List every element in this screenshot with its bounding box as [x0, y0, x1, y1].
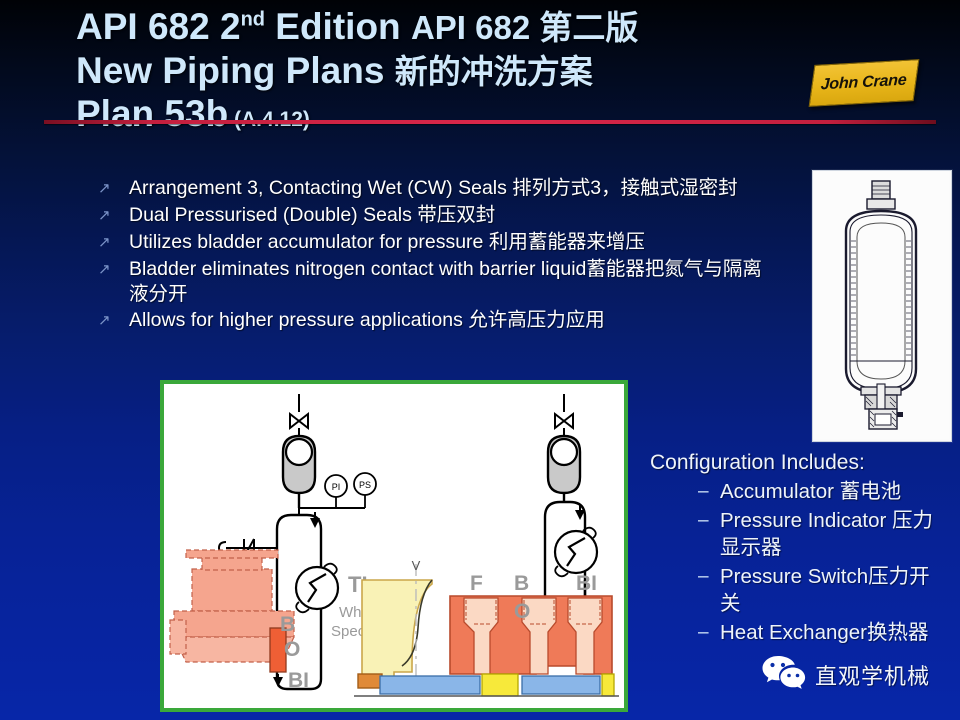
dash-bullet-icon: – — [698, 507, 720, 534]
pi-gauge-label: PI — [332, 482, 341, 492]
arrow-bullet-icon: ↗ — [96, 230, 129, 256]
list-item: – Pressure Switch压力开关 — [650, 563, 950, 617]
configuration-title: Configuration Includes: — [650, 450, 950, 476]
o-label-left: O — [284, 638, 300, 661]
title-edition-text: Edition — [265, 6, 411, 47]
list-item: – Accumulator 蓄电池 — [650, 478, 950, 505]
wechat-label: 直观学机械 — [815, 659, 930, 691]
title-plan-number: Plan 53b — [76, 93, 228, 134]
john-crane-logo: John Crane — [809, 59, 920, 107]
piping-schematic-icon: PI PS — [164, 384, 624, 708]
title-piping-plans-text: New Piping Plans — [76, 50, 395, 91]
title-ordinal-superscript: nd — [241, 9, 265, 31]
wechat-watermark: 直观学机械 — [762, 654, 930, 695]
config-item-text: Heat Exchanger换热器 — [720, 619, 929, 646]
title-line-1: API 682 2nd Edition API 682 第二版 — [76, 8, 866, 46]
ps-gauge-label: PS — [359, 480, 371, 490]
title-api-cn-prefix: API 682 — [411, 9, 539, 46]
arrow-bullet-icon: ↗ — [96, 203, 129, 229]
dash-bullet-icon: – — [698, 619, 720, 646]
dash-bullet-icon: – — [698, 478, 720, 505]
list-item: ↗ Bladder eliminates nitrogen contact wi… — [96, 257, 776, 307]
bullet-text: Allows for higher pressure applications … — [129, 308, 605, 333]
centerline-label: V — [412, 558, 421, 573]
config-item-text: Accumulator 蓄电池 — [720, 478, 901, 505]
o-label-right: O — [514, 600, 530, 623]
list-item: – Pressure Indicator 压力显示器 — [650, 507, 950, 561]
dash-bullet-icon: – — [698, 563, 720, 590]
bullet-text: Utilizes bladder accumulator for pressur… — [129, 230, 645, 255]
config-item-text: Pressure Indicator 压力显示器 — [720, 507, 950, 561]
wechat-icon — [762, 654, 806, 695]
accumulator-drawing-icon — [813, 171, 949, 439]
bullet-list: ↗ Arrangement 3, Contacting Wet (CW) Sea… — [96, 176, 776, 335]
bladder-accumulator-cutaway-image — [812, 170, 952, 442]
f-label-right: F — [470, 572, 483, 595]
wechat-bubbles-icon — [762, 654, 806, 690]
config-item-text: Pressure Switch压力开关 — [720, 563, 950, 617]
john-crane-logo-text: John Crane — [821, 72, 907, 95]
list-item: ↗ Arrangement 3, Contacting Wet (CW) Sea… — [96, 176, 776, 202]
title-divider-rule — [44, 120, 936, 124]
bullet-text: Dual Pressurised (Double) Seals 带压双封 — [129, 203, 495, 228]
title-line-1-chinese: 第二版 — [539, 9, 638, 46]
title-line-2-chinese: 新的冲洗方案 — [395, 53, 593, 90]
b-label-left: B — [280, 613, 295, 636]
configuration-list: Configuration Includes: – Accumulator 蓄电… — [650, 450, 950, 646]
slide-root: API 682 2nd Edition API 682 第二版 New Pipi… — [0, 0, 960, 720]
bi-label-left: BI — [288, 669, 309, 692]
list-item: ↗ Allows for higher pressure application… — [96, 308, 776, 334]
arrow-bullet-icon: ↗ — [96, 176, 129, 202]
b-label-right: B — [514, 572, 529, 595]
list-item: – Heat Exchanger换热器 — [650, 619, 950, 646]
arrow-bullet-icon: ↗ — [96, 308, 129, 334]
title-line-3: Plan 53b (A.4.12) — [76, 95, 866, 133]
list-item: ↗ Utilizes bladder accumulator for press… — [96, 230, 776, 256]
bullet-text: Bladder eliminates nitrogen contact with… — [129, 257, 776, 307]
bi-label-right: BI — [576, 572, 597, 595]
plan-53b-piping-diagram: PI PS — [160, 380, 628, 712]
bullet-text: Arrangement 3, Contacting Wet (CW) Seals… — [129, 176, 738, 201]
list-item: ↗ Dual Pressurised (Double) Seals 带压双封 — [96, 203, 776, 229]
arrow-bullet-icon: ↗ — [96, 257, 129, 283]
title-line-2: New Piping Plans 新的冲洗方案 — [76, 52, 866, 90]
title-api-text: API 682 2 — [76, 6, 241, 47]
slide-title-block: API 682 2nd Edition API 682 第二版 New Pipi… — [76, 8, 866, 133]
